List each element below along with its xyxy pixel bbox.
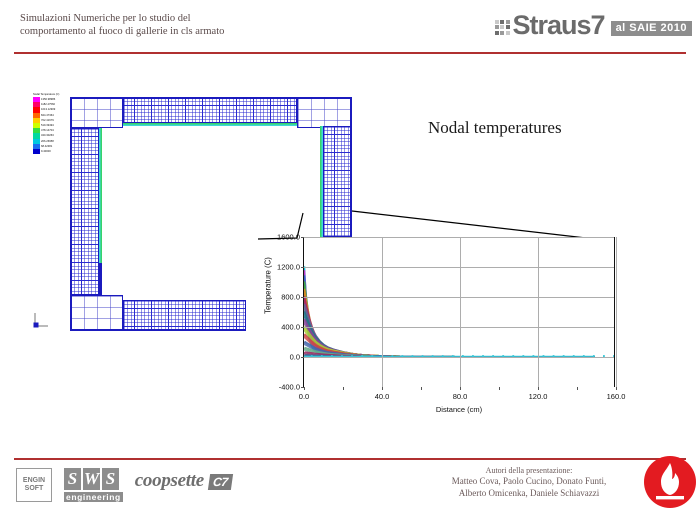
chart-gridline-horizontal (304, 327, 614, 328)
chart-series-line (304, 305, 595, 356)
chart-series-line (305, 275, 595, 356)
chart-series-line (305, 289, 595, 357)
chart-series-line (304, 267, 595, 356)
chart-series-line (305, 266, 595, 356)
sws-subtitle: engineering (64, 492, 123, 502)
chart-series-line (304, 269, 595, 356)
chart-x-tick-mark-minor (577, 387, 578, 390)
chart-series-line (305, 319, 595, 357)
chart-series-line (305, 326, 595, 356)
chart-gridline-horizontal (304, 267, 614, 268)
chart-y-tick-mark (301, 327, 304, 328)
enginsoft-line2: SOFT (25, 485, 44, 493)
chart-x-tick-label: 120.0 (529, 392, 548, 401)
authors-label: Autori della presentazione: (424, 466, 634, 475)
chart-x-tick-mark-minor (499, 387, 500, 390)
chart-series-line (304, 327, 594, 357)
chart-series-line (305, 270, 595, 356)
chart-y-tick-label: 0.0 (290, 353, 300, 362)
chart-y-tick-label: 1200.0 (277, 263, 300, 272)
chart-series-line (304, 271, 595, 356)
chart-y-tick-label: -400.0 (279, 383, 300, 392)
chart-y-axis-title: Temperature (C) (264, 241, 273, 331)
authors-block: Autori della presentazione: Matteo Cova,… (424, 466, 634, 499)
chart-series-line (304, 312, 595, 356)
page-title: Nodal temperatures (428, 118, 562, 138)
mesh-outline-right (350, 97, 352, 237)
chart-x-tick-mark (616, 387, 617, 390)
chart-gridline-horizontal (304, 357, 614, 358)
nodal-temperature-chart: -400.00.0400.0800.01200.01600.00.040.080… (255, 233, 630, 418)
legend-rows: 1350.989861182.475601013.12909844.473647… (33, 97, 63, 154)
chart-x-tick-label: 80.0 (453, 392, 468, 401)
chart-series-line (304, 320, 595, 357)
chart-x-tick-mark (460, 387, 461, 390)
mesh-block-right-wall (323, 126, 352, 237)
chart-series-line (304, 284, 595, 356)
chart-series-line (304, 320, 595, 356)
chart-series-line (305, 289, 595, 356)
chart-x-tick-mark-minor (343, 387, 344, 390)
slide-footer: ENGIN SOFT S W S engineering coopsetteC7… (0, 460, 700, 525)
header-title-line1: Simulazioni Numeriche per lo studio del (20, 12, 350, 25)
chart-x-axis-title: Distance (cm) (303, 405, 615, 414)
chart-series-line (304, 291, 595, 357)
coopsette-logo: coopsetteC7 (135, 470, 232, 492)
legend-value: 519.39494 (41, 124, 54, 127)
mesh-block-top-slab (123, 97, 297, 123)
chart-series-line (305, 304, 595, 357)
legend-value: 68.42381 (41, 145, 52, 148)
chart-series-line (305, 281, 595, 356)
chart-gridline-vertical (538, 237, 539, 387)
legend-swatch (33, 149, 40, 154)
chart-series-line (304, 283, 595, 356)
chart-x-tick-mark (538, 387, 539, 390)
chart-x-tick-mark-minor (421, 387, 422, 390)
fire-safety-logo (642, 454, 698, 510)
chart-series-line (304, 306, 595, 357)
mesh-block-bottom-slab (123, 300, 246, 331)
header-title: Simulazioni Numeriche per lo studio del … (20, 12, 350, 38)
chart-series-line (304, 305, 595, 357)
chart-series-line (304, 268, 595, 356)
chart-series-line (304, 267, 594, 357)
mesh-outline-bottom (70, 329, 246, 331)
xy-axis-indicator-icon (30, 311, 50, 331)
mesh-outline-top (70, 97, 352, 99)
chart-plot-area: -400.00.0400.0800.01200.01600.00.040.080… (303, 237, 615, 387)
chart-x-tick-mark (304, 387, 305, 390)
sws-engineering-logo: S W S engineering (64, 468, 123, 502)
chart-y-tick-mark (301, 357, 304, 358)
chart-series-line (304, 271, 595, 356)
chart-x-tick-label: 0.0 (299, 392, 309, 401)
chart-series-line (304, 312, 594, 357)
legend-value: 478.14704 (41, 129, 54, 132)
chart-series-line (305, 311, 595, 356)
mesh-hot-edge-top (123, 123, 297, 126)
straus7-wordmark: Straus7 (513, 12, 605, 39)
chart-x-tick-label: 40.0 (375, 392, 390, 401)
chart-y-tick-mark (301, 297, 304, 298)
chart-series-line (304, 282, 594, 357)
chart-series-line (305, 319, 595, 356)
chart-series-line (304, 276, 595, 356)
sws-letter-s2: S (102, 468, 119, 490)
straus7-logo: Straus7 al SAIE 2010 (495, 8, 693, 42)
chart-y-tick-mark (301, 237, 304, 238)
mesh-hot-edge-right (320, 126, 323, 237)
legend-value: 340.30263 (41, 134, 54, 137)
slide-header: Simulazioni Numeriche per lo studio del … (0, 0, 700, 52)
coopsette-mark-icon: C7 (208, 474, 233, 490)
chart-gridline-vertical (616, 237, 617, 387)
legend-value: 1350.98986 (41, 98, 55, 101)
chart-series-line (304, 319, 594, 356)
chart-series-layer (304, 237, 614, 387)
legend-row: 9.40000 (33, 149, 63, 154)
chart-x-tick-mark (382, 387, 383, 390)
legend-value: 9.40000 (41, 150, 51, 153)
legend-value: 206.26958 (41, 140, 54, 143)
chart-y-tick-mark (301, 267, 304, 268)
chart-series-line (304, 313, 595, 357)
chart-series-line (304, 282, 595, 356)
chart-series-line (305, 281, 595, 356)
chart-series-line (304, 289, 594, 356)
saie-badge: al SAIE 2010 (611, 21, 692, 36)
legend-value: 1182.47560 (41, 103, 55, 106)
chart-series-line (304, 273, 595, 357)
chart-series-line (305, 304, 595, 356)
authors-line1: Matteo Cova, Paolo Cucino, Donato Funti, (424, 475, 634, 487)
chart-y-tick-label: 400.0 (281, 323, 300, 332)
chart-series-line (305, 266, 595, 356)
temperature-legend: Nodal Temperature (C) 1350.989861182.475… (33, 93, 63, 154)
chart-y-tick-label: 800.0 (281, 293, 300, 302)
enginsoft-logo: ENGIN SOFT (16, 468, 52, 502)
mesh-hot-edge-left (99, 128, 102, 265)
mesh-block-top-right-corner (297, 97, 352, 128)
chart-x-tick-label: 160.0 (607, 392, 626, 401)
mesh-block-left-wall (70, 128, 99, 295)
chart-series-line (304, 306, 595, 356)
coopsette-wordmark: coopsette (135, 470, 204, 491)
chart-series-line (304, 290, 595, 357)
legend-value: 844.47364 (41, 114, 54, 117)
chart-series-line (304, 277, 595, 356)
chart-series-line (305, 270, 595, 356)
chart-series-line (305, 341, 595, 356)
chart-series-line (304, 283, 595, 357)
sws-letters: S W S (64, 468, 123, 490)
sws-letter-s1: S (64, 468, 81, 490)
straus7-squares-icon (495, 20, 510, 35)
chart-y-tick-label: 1600.0 (277, 233, 300, 242)
sws-letter-w: W (83, 468, 100, 490)
legend-value: 1013.12909 (41, 108, 55, 111)
mesh-block-top-left-corner (70, 97, 123, 128)
legend-title: Nodal Temperature (C) (33, 93, 63, 96)
chart-series-line (305, 275, 595, 356)
mesh-outline-left (70, 97, 72, 331)
chart-series-line (304, 272, 595, 356)
chart-series-line (304, 268, 595, 357)
mesh-block-bottom-left-corner (70, 295, 123, 331)
chart-series-line (305, 311, 595, 356)
chart-series-line (304, 314, 595, 356)
chart-series-line (305, 326, 595, 356)
chart-series-line (304, 290, 595, 356)
mesh-left-wall-boundary (99, 263, 102, 295)
enginsoft-line1: ENGIN (23, 477, 45, 485)
chart-series-line (305, 334, 595, 357)
chart-gridline-vertical (382, 237, 383, 387)
chart-gridline-horizontal (304, 297, 614, 298)
chart-series-line (304, 291, 595, 356)
legend-value: 702.41679 (41, 119, 54, 122)
chart-series-line (304, 304, 594, 356)
chart-series-line (304, 313, 595, 356)
chart-series-line (304, 278, 595, 356)
chart-series-line (304, 271, 594, 357)
chart-gridline-vertical (460, 237, 461, 387)
chart-series-line (304, 277, 595, 357)
chart-series-line (304, 276, 594, 357)
authors-line2: Alberto Omicenka, Daniele Schiavazzi (424, 487, 634, 499)
chart-gridline-horizontal (304, 237, 614, 238)
slide-body: Nodal temperatures Nodal Temperature (C)… (0, 53, 700, 453)
header-title-line2: comportamento al fuoco di gallerie in cl… (20, 25, 350, 38)
